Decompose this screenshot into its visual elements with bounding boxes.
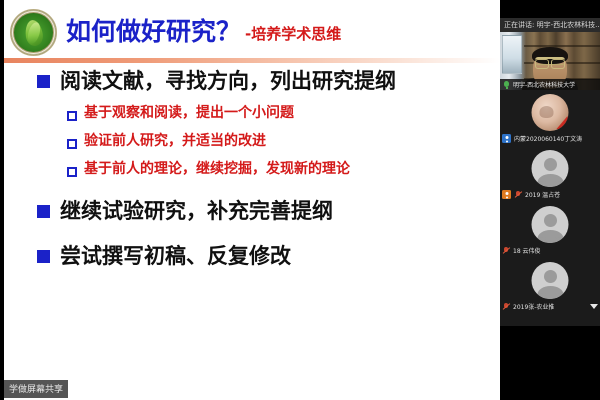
hollow-square-bullet-icon — [67, 167, 77, 177]
bullet-level1-text: 阅读文献，寻找方向，列出研究提纲 — [60, 66, 396, 96]
chevron-down-icon[interactable] — [590, 304, 598, 309]
participant-tile[interactable]: 2019 温占苍 — [500, 146, 600, 202]
participant-name: 内蒙2020060140丁文涛 — [514, 134, 582, 143]
participant-label: 2019 温占苍 — [502, 190, 598, 199]
participant-label: 2019张-农业推 — [502, 302, 598, 311]
participant-name: 2019 温占苍 — [525, 190, 560, 199]
bullet-level2: 基于观察和阅读，提出一个小问题 — [4, 104, 500, 124]
participant-tile[interactable]: 内蒙2020060140丁文涛 — [500, 90, 600, 146]
participant-label: 内蒙2020060140丁文涛 — [502, 134, 598, 143]
slide-header: 如何做好研究？ -培养学术思维 — [4, 0, 500, 62]
active-speaker-video-tile[interactable]: 明宇-西北农林科技大学 — [500, 32, 600, 90]
window-background — [502, 35, 522, 73]
title-divider — [4, 58, 500, 63]
hollow-square-bullet-icon — [67, 111, 77, 121]
bullet-level2: 基于前人的理论，继续挖掘，发现新的理论 — [4, 160, 500, 180]
avatar — [532, 94, 569, 131]
participant-tile[interactable]: 18 云伟俊 — [500, 202, 600, 258]
microphone-muted-icon — [502, 247, 510, 255]
slide-title: 如何做好研究？ — [66, 12, 241, 48]
participant-name: 2019张-农业推 — [513, 302, 554, 311]
bullet-level1: 尝试撰写初稿、反复修改 — [4, 241, 500, 271]
filled-square-bullet-icon — [37, 75, 50, 88]
bullet-level1: 阅读文献，寻找方向，列出研究提纲 — [4, 66, 500, 96]
filled-square-bullet-icon — [37, 250, 50, 263]
filled-square-bullet-icon — [37, 205, 50, 218]
bullet-level2-text: 基于观察和阅读，提出一个小问题 — [84, 104, 294, 124]
bullet-level2: 验证前人研究，并适当的改进 — [4, 132, 500, 152]
slide-title-row: 如何做好研究？ -培养学术思维 — [66, 12, 492, 54]
bullet-level2-text: 基于前人的理论，继续挖掘，发现新的理论 — [84, 160, 350, 180]
bookshelf-line — [524, 45, 600, 47]
bullet-level1-text: 尝试撰写初稿、反复修改 — [60, 241, 291, 271]
bullet-level1: 继续试验研究，补充完善提纲 — [4, 196, 500, 226]
sub-bullet-list: 基于观察和阅读，提出一个小问题 验证前人研究，并适当的改进 基于前人的理论，继续… — [4, 104, 500, 179]
slide-body: 阅读文献，寻找方向，列出研究提纲 基于观察和阅读，提出一个小问题 验证前人研究，… — [4, 66, 500, 271]
microphone-muted-icon — [502, 303, 510, 311]
microphone-green-icon — [503, 81, 510, 89]
host-badge-icon — [502, 190, 511, 199]
avatar — [532, 206, 569, 243]
shared-slide: 如何做好研究？ -培养学术思维 阅读文献，寻找方向，列出研究提纲 基于观察和阅读… — [4, 0, 500, 400]
participant-name: 18 云伟俊 — [513, 246, 541, 255]
hollow-square-bullet-icon — [67, 139, 77, 149]
active-speaker-banner: 正在讲话: 明宇-西北农林科技... — [500, 18, 600, 32]
slide-subtitle: -培养学术思维 — [245, 23, 341, 44]
bullet-group: 阅读文献，寻找方向，列出研究提纲 基于观察和阅读，提出一个小问题 验证前人研究，… — [4, 66, 500, 179]
avatar — [532, 262, 569, 299]
participant-badge-icon — [502, 134, 511, 143]
university-emblem-icon — [10, 9, 57, 56]
microphone-muted-icon — [514, 191, 522, 199]
participant-label: 18 云伟俊 — [502, 246, 598, 255]
screen-share-view: 如何做好研究？ -培养学术思维 阅读文献，寻找方向，列出研究提纲 基于观察和阅读… — [0, 0, 600, 400]
active-speaker-name: 明宇-西北农林科技大学 — [513, 80, 575, 89]
participant-panel[interactable]: 正在讲话: 明宇-西北农林科技... 明宇-西北农林科技大学 内蒙2020060… — [500, 18, 600, 326]
avatar — [532, 150, 569, 187]
participant-tile[interactable]: 2019张-农业推 — [500, 258, 600, 314]
bullet-level1-text: 继续试验研究，补充完善提纲 — [60, 196, 333, 226]
active-speaker-name-strip: 明宇-西北农林科技大学 — [500, 79, 600, 90]
glasses-icon — [535, 57, 565, 65]
bullet-level2-text: 验证前人研究，并适当的改进 — [84, 132, 266, 152]
screen-share-watermark: 学做屏幕共享 — [4, 380, 68, 398]
